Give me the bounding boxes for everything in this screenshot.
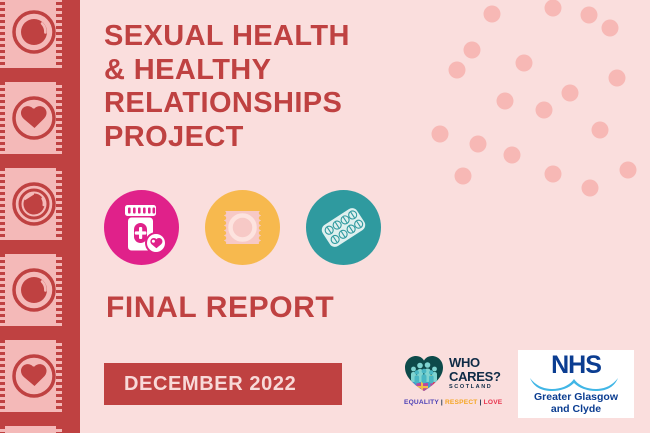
who-cares-tagline: EQUALITY | RESPECT | LOVE bbox=[404, 399, 508, 406]
report-cover: SEXUAL HEALTH & HEALTHY RELATIONSHIPS PR… bbox=[0, 0, 650, 433]
wrapper-serrated-edge-right bbox=[56, 340, 62, 412]
decorative-dot bbox=[470, 136, 487, 153]
spiral-ring-icon bbox=[12, 182, 56, 226]
page-title: SEXUAL HEALTH & HEALTHY RELATIONSHIPS PR… bbox=[104, 20, 404, 155]
decorative-dot bbox=[562, 85, 579, 102]
wrapper-serrated-edge-right bbox=[56, 168, 62, 240]
nhs-subtitle-line-1: Greater Glasgow bbox=[534, 391, 618, 403]
title-line-4: PROJECT bbox=[104, 121, 404, 155]
blister-pack-icon bbox=[306, 190, 381, 265]
heart-icon bbox=[404, 354, 444, 392]
wrapper-serrated-edge-right bbox=[56, 254, 62, 326]
nhs-subtitle-line-2: and Clyde bbox=[551, 403, 601, 415]
condom-wrapper-strip bbox=[0, 0, 80, 433]
nhs-swoosh-icon bbox=[528, 377, 624, 391]
ring-circle-icon bbox=[12, 268, 56, 312]
title-line-3: RELATIONSHIPS bbox=[104, 87, 404, 121]
wrapper-serrated-edge-left bbox=[0, 82, 5, 154]
decorative-dot bbox=[449, 62, 466, 79]
nhs-subtitle: Greater Glasgow and Clyde bbox=[534, 392, 618, 415]
decorative-dot bbox=[497, 93, 514, 110]
decorative-dot bbox=[581, 7, 598, 24]
tagline-separator-2: | bbox=[480, 399, 482, 406]
wrapper-serrated-edge-left bbox=[0, 254, 5, 326]
ring-circle-icon bbox=[12, 10, 56, 54]
who-cares-scotland-logo: WHO CARES? SCOTLAND EQUALITY | RESPECT |… bbox=[404, 354, 508, 418]
tagline-love: LOVE bbox=[484, 399, 503, 406]
wrapper-cell bbox=[0, 82, 62, 154]
title-line-1: SEXUAL HEALTH bbox=[104, 20, 404, 54]
title-line-2: & HEALTHY bbox=[104, 54, 404, 88]
decorative-dot bbox=[484, 6, 501, 23]
wrapper-cell bbox=[0, 168, 62, 240]
decorative-dot bbox=[455, 168, 472, 185]
wrapper-cell bbox=[0, 426, 62, 433]
decorative-dot bbox=[516, 55, 533, 72]
decorative-dot bbox=[536, 102, 553, 119]
wrapper-serrated-edge-left bbox=[0, 340, 5, 412]
heart-in-circle-icon bbox=[12, 96, 56, 140]
wrapper-serrated-edge-left bbox=[0, 168, 5, 240]
decorative-dot bbox=[602, 20, 619, 37]
nhs-wordmark: NHS bbox=[551, 353, 601, 378]
heart-in-circle-icon bbox=[12, 354, 56, 398]
tagline-separator-1: | bbox=[441, 399, 443, 406]
report-subtitle: FINAL REPORT bbox=[106, 291, 334, 325]
who-cares-line-2: CARES? bbox=[449, 370, 501, 383]
date-banner-label: DECEMBER 2022 bbox=[124, 373, 296, 396]
decorative-dot bbox=[504, 147, 521, 164]
decorative-dot bbox=[432, 126, 449, 143]
condom-packet-icon bbox=[205, 190, 280, 265]
decorative-dot bbox=[464, 42, 481, 59]
decorative-dot bbox=[545, 166, 562, 183]
decorative-dot bbox=[592, 122, 609, 139]
wrapper-serrated-edge-right bbox=[56, 0, 62, 68]
who-cares-line-1: WHO bbox=[449, 356, 501, 369]
icon-row bbox=[104, 190, 381, 265]
wrapper-serrated-edge-right bbox=[56, 82, 62, 154]
who-cares-line-3: SCOTLAND bbox=[449, 385, 501, 391]
nhs-logo: NHS Greater Glasgow and Clyde bbox=[518, 350, 634, 418]
decorative-dot bbox=[620, 162, 637, 179]
wrapper-cell bbox=[0, 254, 62, 326]
pill-bottle-icon bbox=[104, 190, 179, 265]
wrapper-cell bbox=[0, 0, 62, 68]
decorative-dot bbox=[545, 0, 562, 17]
date-banner: DECEMBER 2022 bbox=[104, 363, 342, 405]
decorative-dot bbox=[609, 70, 626, 87]
tagline-equality: EQUALITY bbox=[404, 399, 439, 406]
tagline-respect: RESPECT bbox=[445, 399, 478, 406]
decorative-dot bbox=[582, 180, 599, 197]
wrapper-cell bbox=[0, 340, 62, 412]
wrapper-serrated-edge-right bbox=[56, 426, 62, 433]
wrapper-serrated-edge-left bbox=[0, 426, 5, 433]
wrapper-serrated-edge-left bbox=[0, 0, 5, 68]
